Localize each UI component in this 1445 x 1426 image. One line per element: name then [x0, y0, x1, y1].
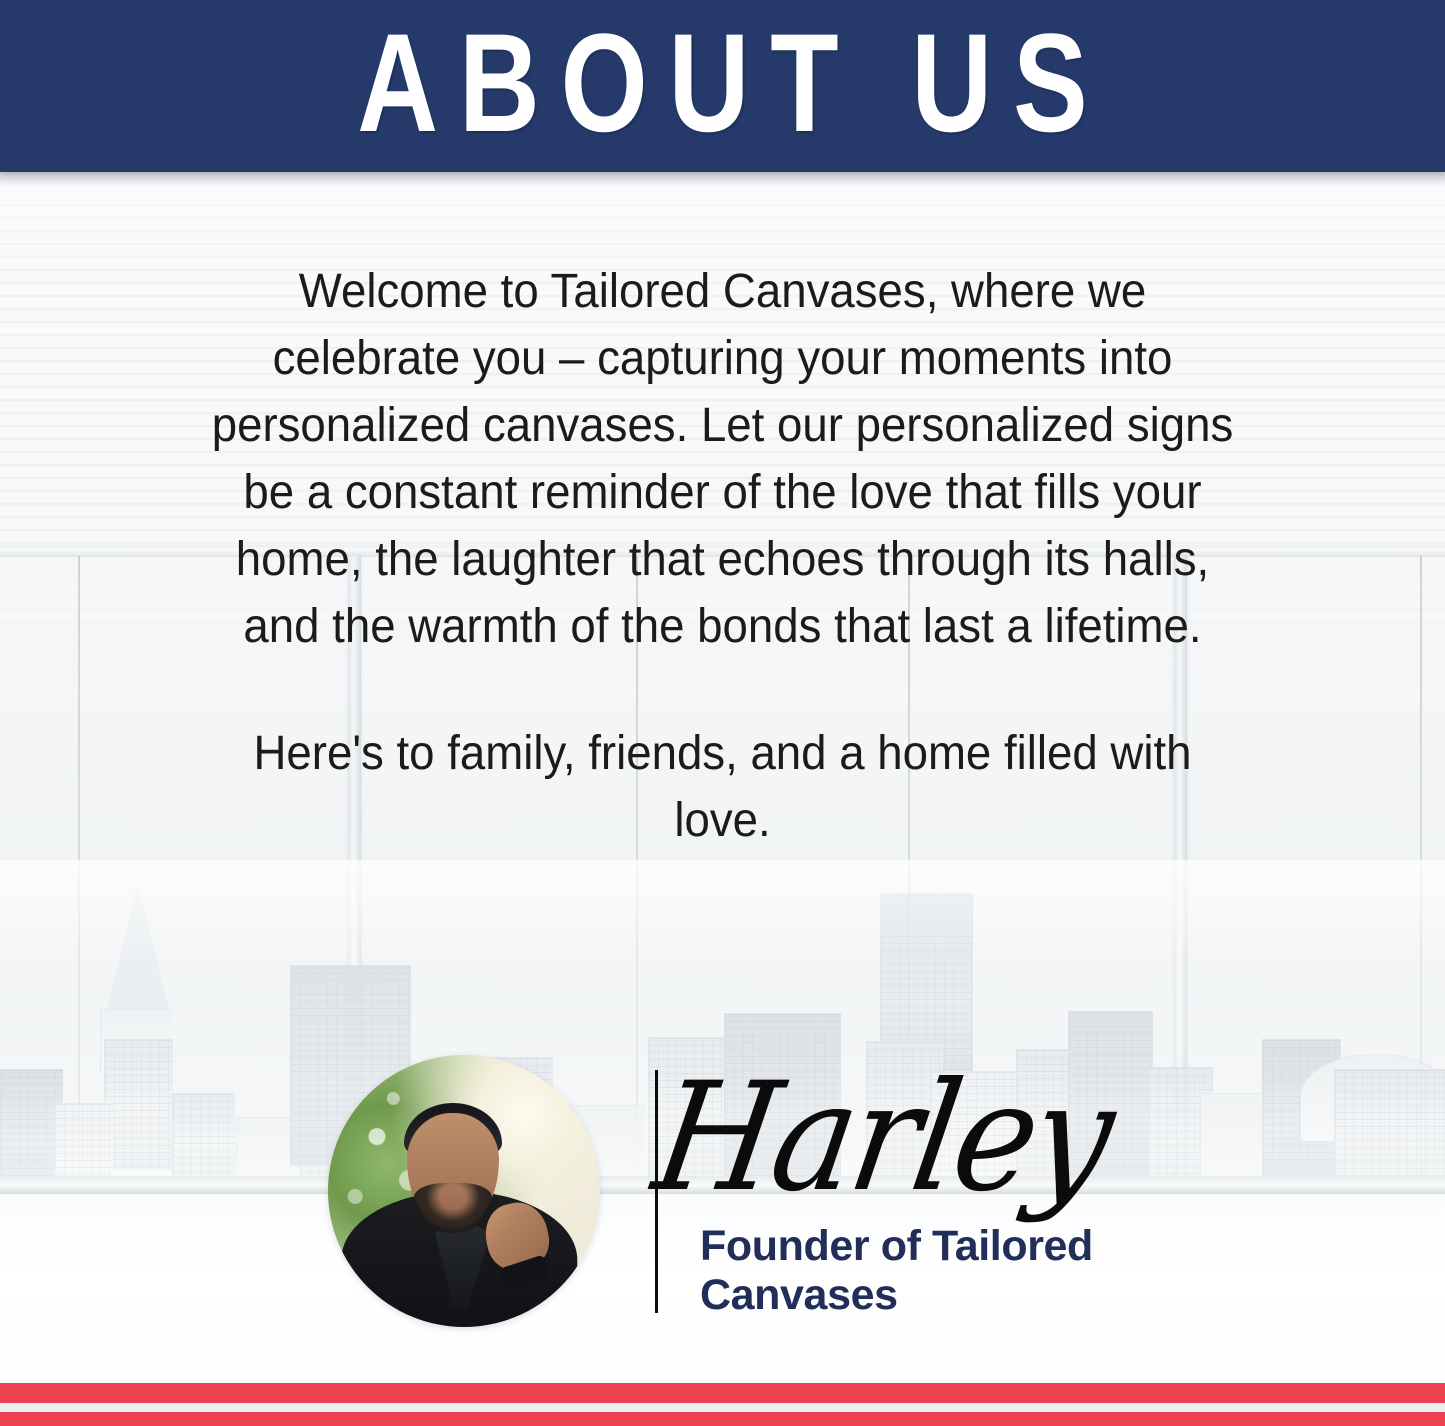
- founder-role-line-2: Canvases: [700, 1271, 1170, 1320]
- accent-stripe-gap: [0, 1403, 1445, 1412]
- about-us-header-banner: ABOUT US: [0, 0, 1445, 172]
- founder-role-line-1: Founder of Tailored: [700, 1222, 1170, 1271]
- about-us-poster: ABOUT US Welcome to Tailored Canvases, w…: [0, 0, 1445, 1426]
- banner-drop-shadow: [0, 172, 1445, 188]
- accent-stripe-top: [0, 1383, 1445, 1403]
- accent-stripe-bottom: [0, 1412, 1445, 1426]
- paragraph-spacer: [207, 660, 1238, 720]
- about-paragraph-2: Here's to family, friends, and a home fi…: [207, 720, 1238, 854]
- about-us-copy: Welcome to Tailored Canvases, where we c…: [207, 258, 1238, 854]
- page-title: ABOUT US: [145, 8, 1301, 158]
- founder-role: Founder of Tailored Canvases: [700, 1222, 1170, 1320]
- about-paragraph-1: Welcome to Tailored Canvases, where we c…: [207, 258, 1238, 660]
- founder-avatar: [328, 1055, 600, 1327]
- founder-signature: Harley: [642, 1048, 1068, 1238]
